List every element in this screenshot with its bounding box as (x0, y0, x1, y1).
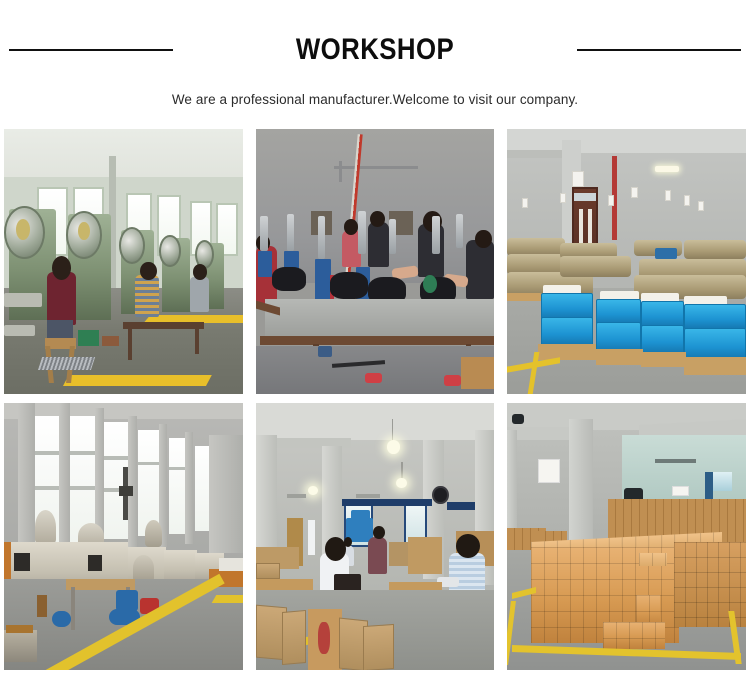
photo-5-scene (256, 403, 495, 670)
photo-2-scene (256, 129, 495, 394)
photo-6-scene (507, 403, 746, 670)
photo-4-scene (4, 403, 243, 670)
workshop-photo-5[interactable]: Packing and finishing room with pendant … (256, 403, 495, 670)
workshop-photo-4[interactable]: Large production hall with very tall win… (4, 403, 243, 670)
title-rule-left (9, 49, 173, 51)
section-header: WORKSHOP We are a professional manufactu… (0, 0, 750, 109)
page-subtitle: We are a professional manufacturer.Welco… (0, 91, 750, 109)
workshop-page: WORKSHOP We are a professional manufactu… (0, 0, 750, 684)
workshop-photo-grid: Stamping workshop with row of green mech… (4, 129, 746, 670)
workshop-photo-2[interactable]: Assembly line: female workers at long st… (256, 129, 495, 394)
title-row: WORKSHOP (0, 33, 750, 67)
title-rule-right (577, 49, 741, 51)
photo-1-scene (4, 129, 243, 394)
workshop-photo-6[interactable]: Finished goods warehouse, large blocks o… (507, 403, 746, 670)
page-title: WORKSHOP (296, 35, 454, 65)
workshop-photo-3[interactable]: Warehouse interior with blue plastic sta… (507, 129, 746, 394)
workshop-photo-1[interactable]: Stamping workshop with row of green mech… (4, 129, 243, 394)
photo-3-scene (507, 129, 746, 394)
